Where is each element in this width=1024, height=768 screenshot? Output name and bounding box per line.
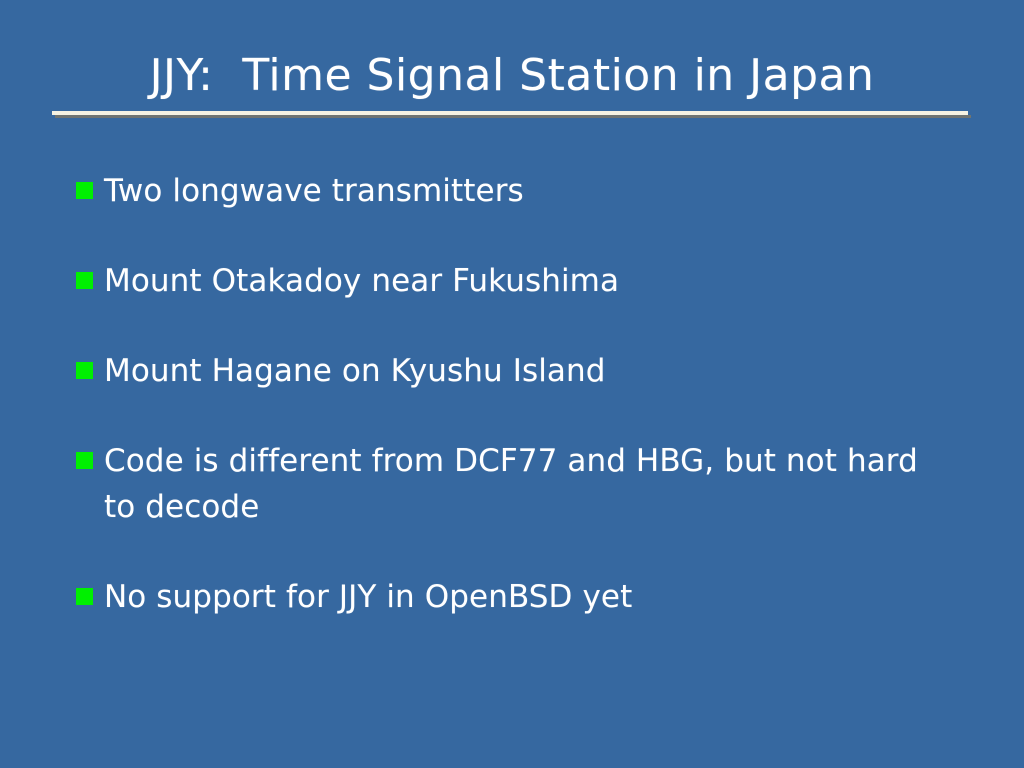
presentation-slide: JJY: Time Signal Station in Japan Two lo… <box>0 0 1024 768</box>
list-item-label: Mount Hagane on Kyushu Island <box>104 348 980 394</box>
list-item-label: Two longwave transmitters <box>104 168 980 214</box>
list-item: Mount Otakadoy near Fukushima <box>76 258 980 304</box>
list-item: Mount Hagane on Kyushu Island <box>76 348 980 394</box>
square-bullet-icon <box>76 182 93 199</box>
square-bullet-icon <box>76 362 93 379</box>
page-title: JJY: Time Signal Station in Japan <box>0 48 1024 104</box>
list-item-label: No support for JJY in OpenBSD yet <box>104 574 980 620</box>
title-divider-rule-shadow <box>55 115 971 118</box>
slide-bullet-list: Two longwave transmitters Mount Otakadoy… <box>76 168 980 620</box>
square-bullet-icon <box>76 272 93 289</box>
slide-title-block: JJY: Time Signal Station in Japan <box>0 48 1024 120</box>
square-bullet-icon <box>76 588 93 605</box>
list-item: Two longwave transmitters <box>76 168 980 214</box>
list-item-label: Code is different from DCF77 and HBG, bu… <box>104 438 980 530</box>
list-item-label: Mount Otakadoy near Fukushima <box>104 258 980 304</box>
square-bullet-icon <box>76 452 93 469</box>
list-item: Code is different from DCF77 and HBG, bu… <box>76 438 980 530</box>
list-item: No support for JJY in OpenBSD yet <box>76 574 980 620</box>
